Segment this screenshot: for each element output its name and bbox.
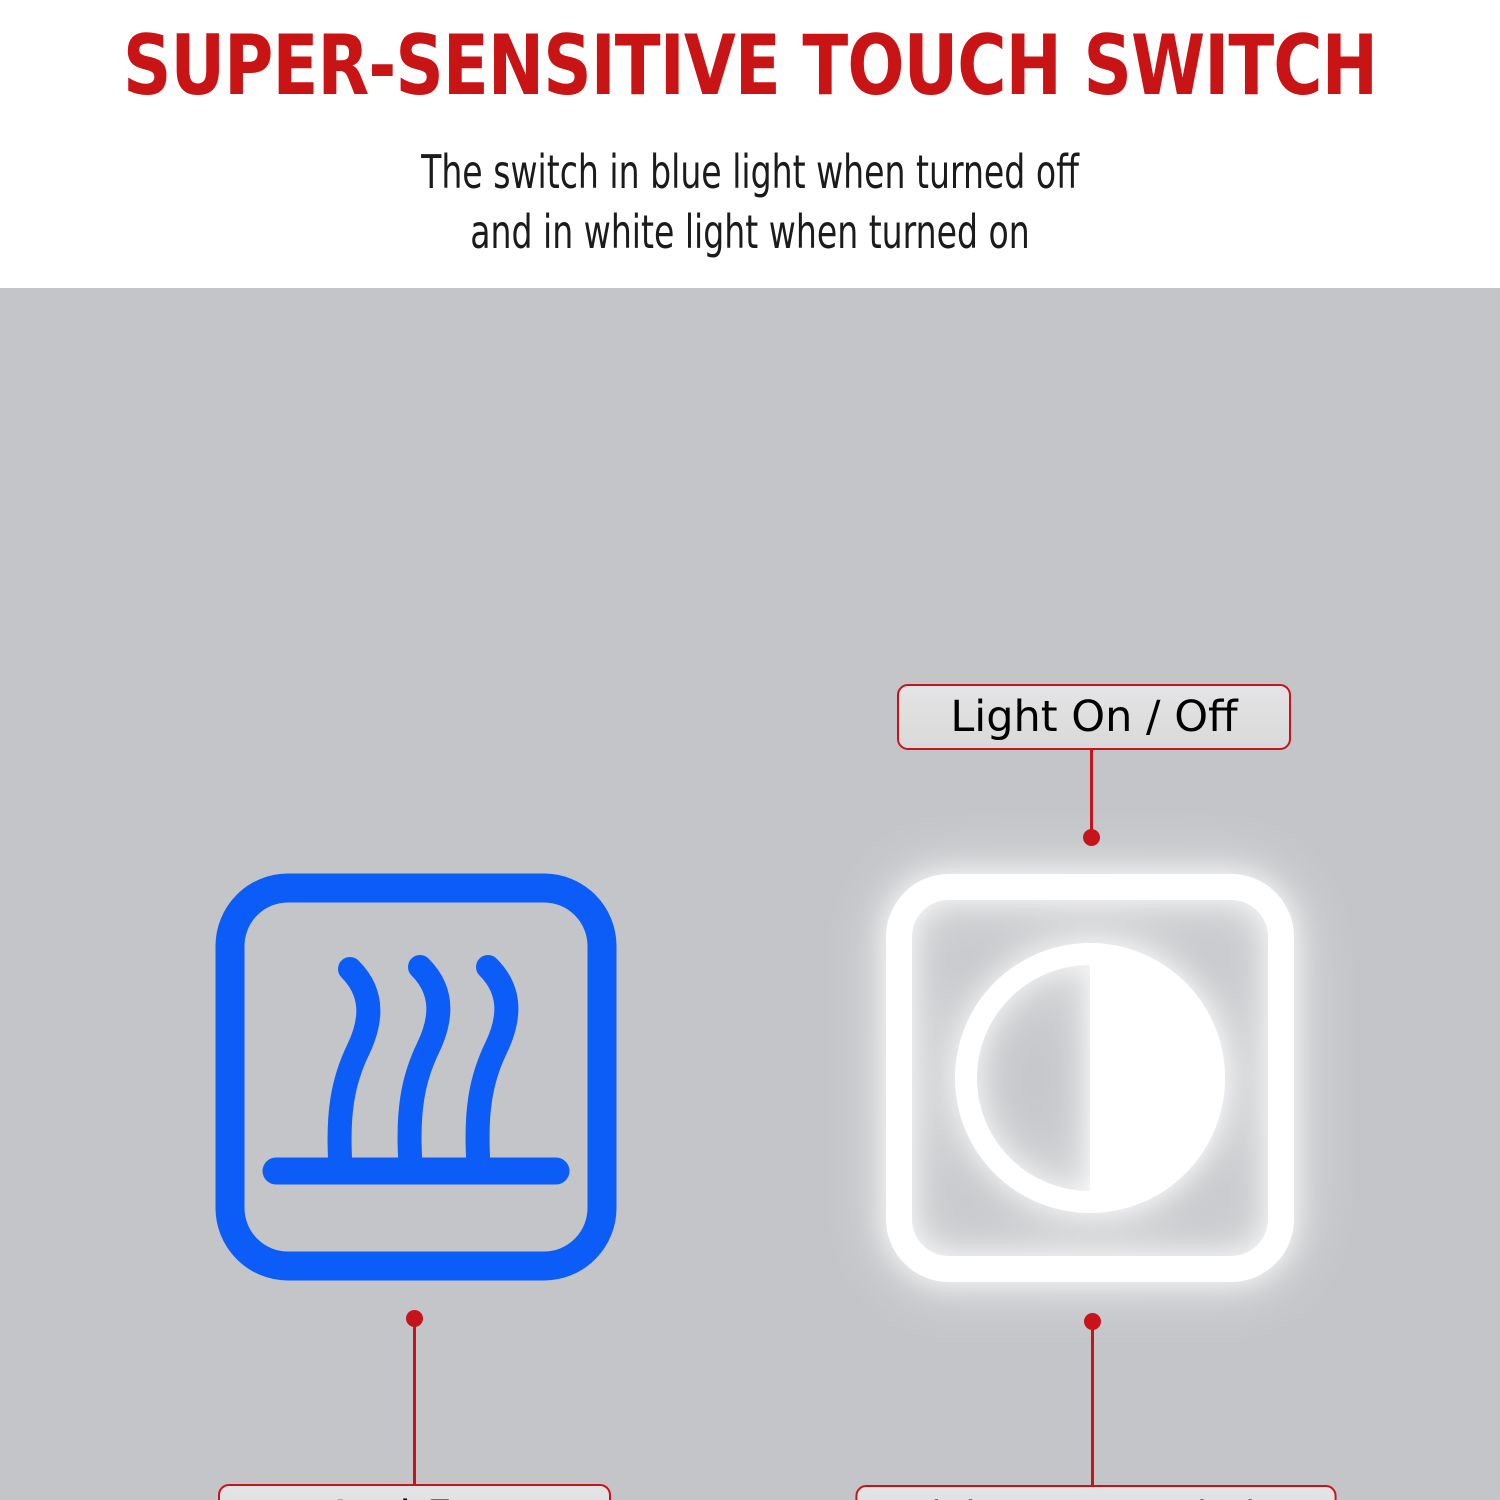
leader-dot-anti-fog	[406, 1310, 423, 1327]
anti-fog-icon	[214, 872, 618, 1282]
leader-line-light-onoff	[1090, 749, 1093, 838]
page-subtitle: The switch in blue light when turned off…	[150, 142, 1350, 262]
leader-line-brightness	[1091, 1328, 1094, 1486]
page-subtitle-line-2: and in white light when turned on	[150, 202, 1350, 262]
product-feature-graphic: SUPER-SENSITIVE TOUCH SWITCH The switch …	[0, 0, 1500, 1500]
callout-anti-fog: Anti-Fog	[218, 1484, 611, 1500]
callout-light-on-off: Light On / Off	[897, 684, 1291, 750]
header-banner: SUPER-SENSITIVE TOUCH SWITCH The switch …	[0, 0, 1500, 288]
page-title: SUPER-SENSITIVE TOUCH SWITCH	[75, 24, 1425, 107]
brightness-half-circle-icon	[884, 872, 1296, 1284]
leader-dot-light-onoff	[1083, 829, 1100, 846]
page-subtitle-line-1: The switch in blue light when turned off	[150, 142, 1350, 202]
illustration-panel: Light On / Off Anti-Fog Brightness Regul…	[0, 288, 1500, 1500]
leader-dot-brightness	[1084, 1313, 1101, 1330]
callout-brightness-regulation: Brightness Regulation	[855, 1485, 1336, 1500]
leader-line-anti-fog	[413, 1325, 416, 1485]
